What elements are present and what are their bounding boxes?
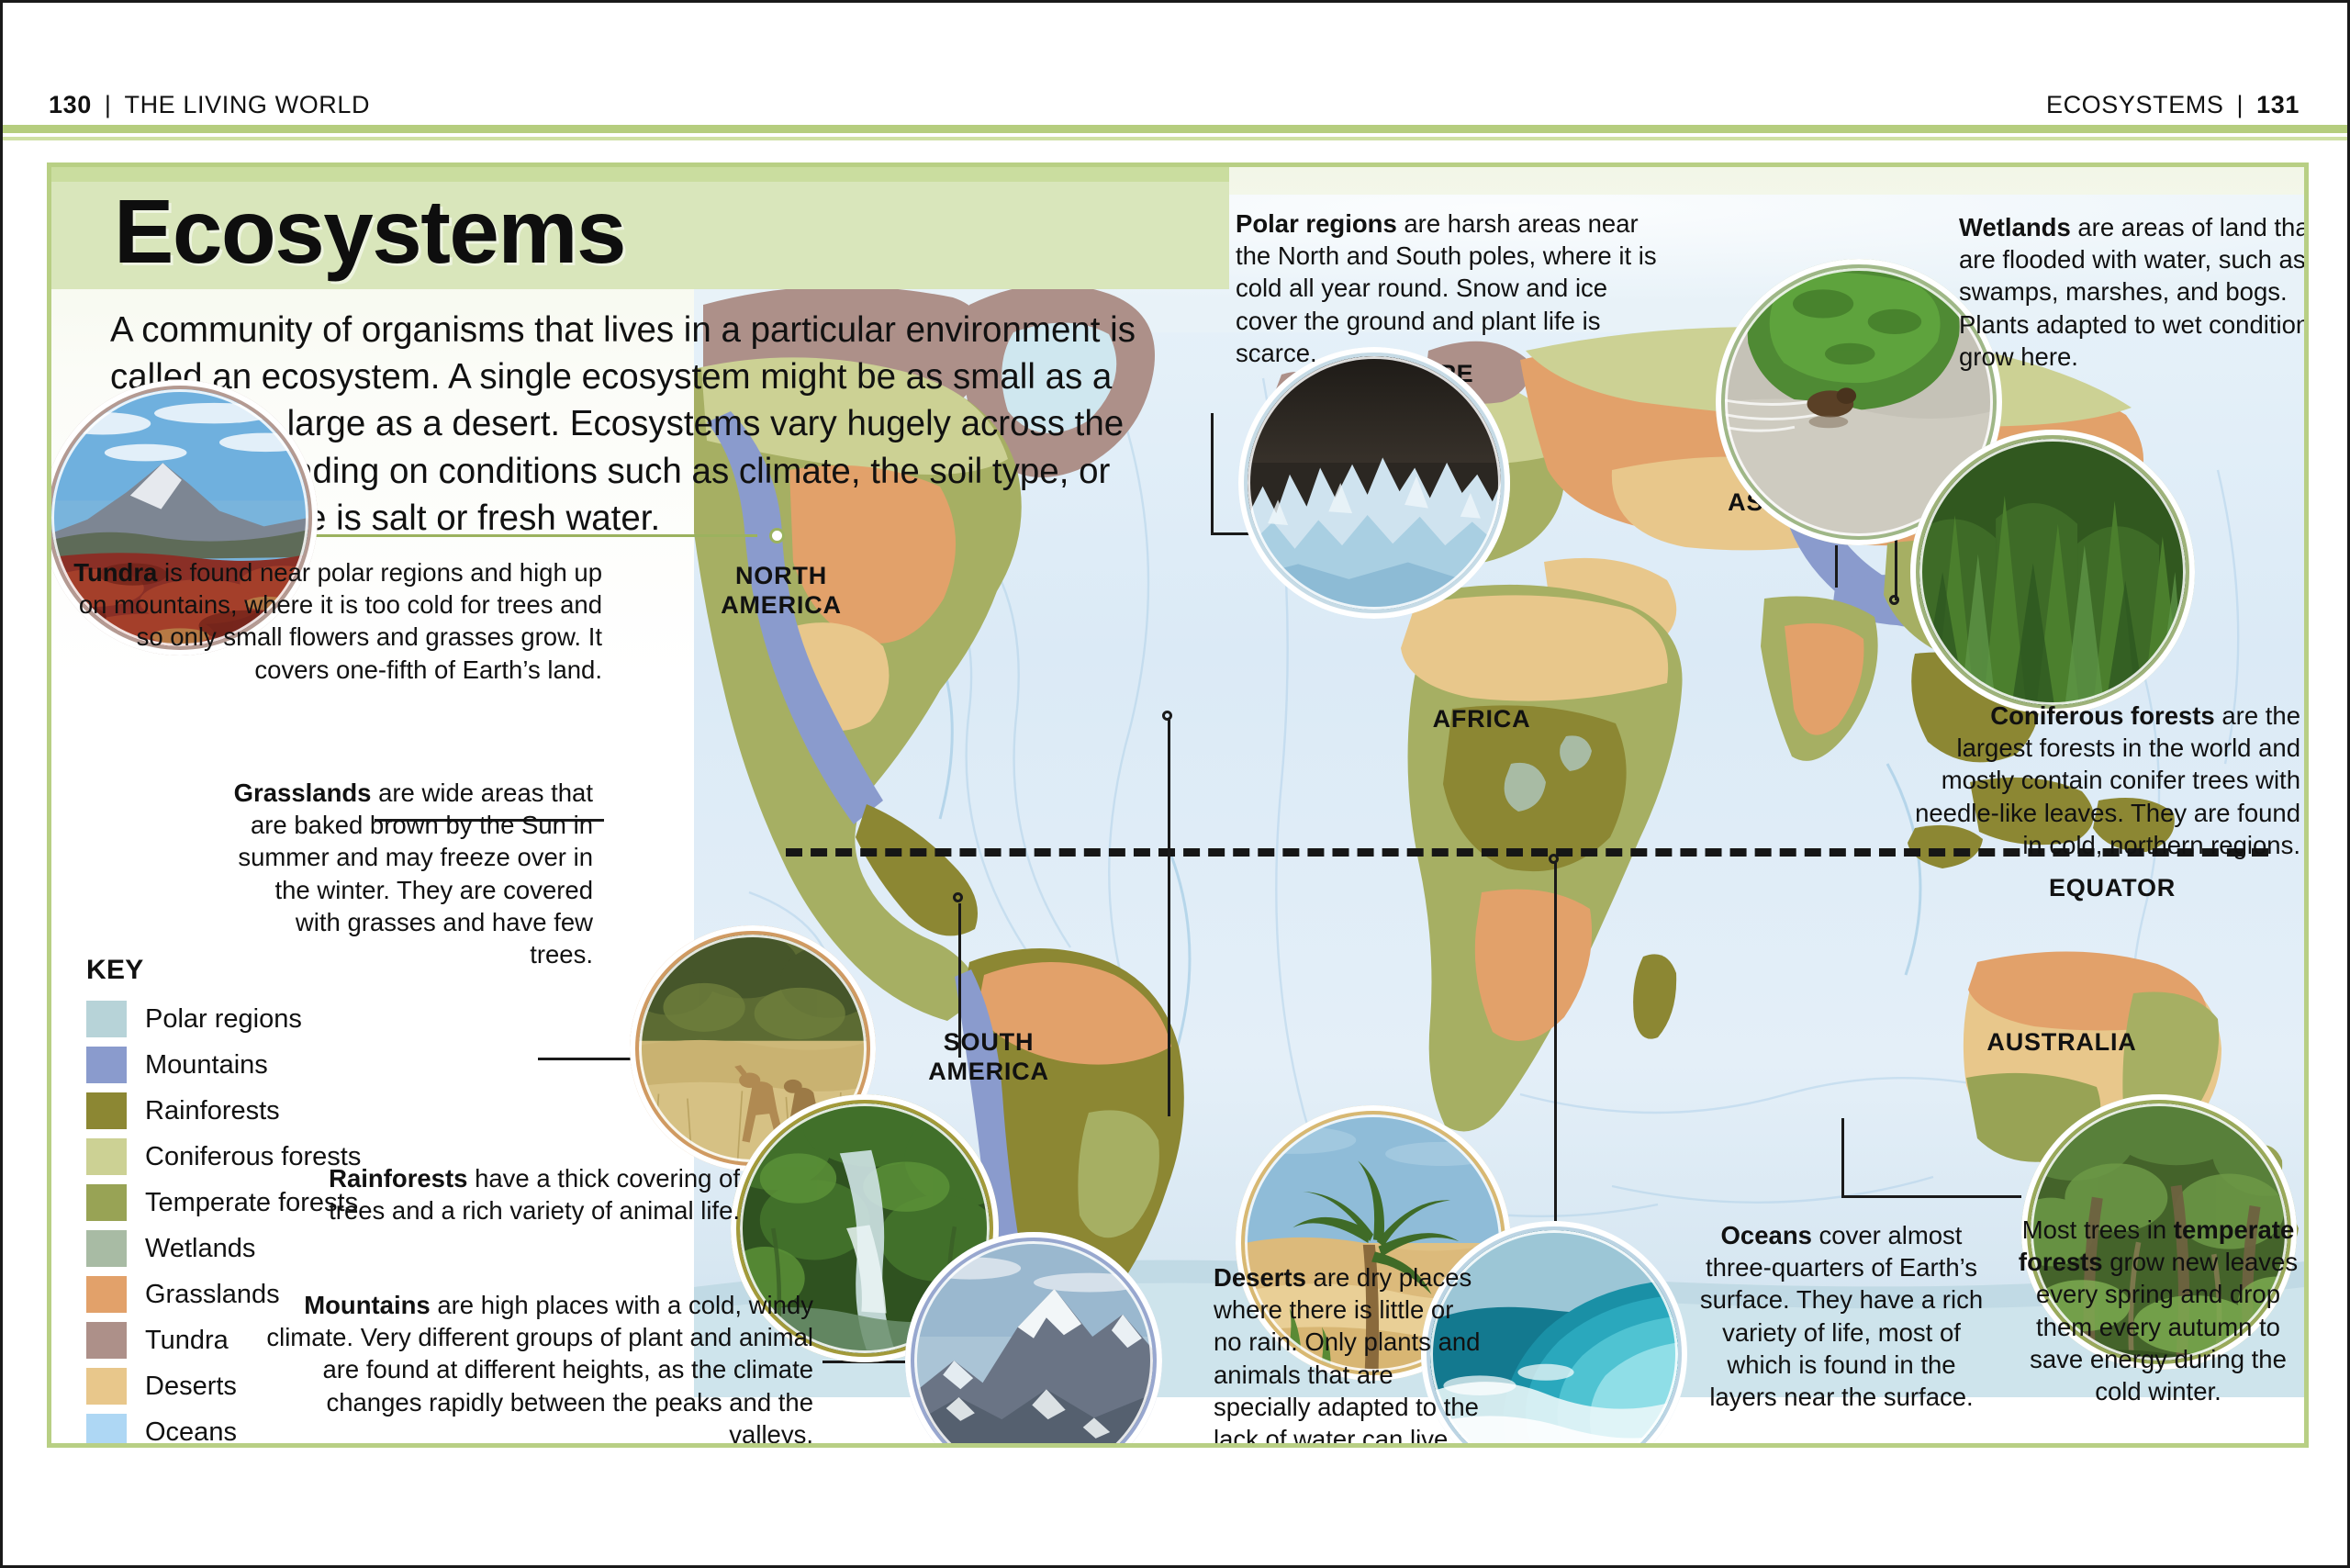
header-rule-thin xyxy=(3,137,2347,140)
caption-polar-regions: Polar regions are harsh areas near the N… xyxy=(1236,207,1667,369)
key-swatch xyxy=(86,1322,127,1359)
section-title-right: ECOSYSTEMS xyxy=(2046,91,2224,118)
runhead-separator-left: | xyxy=(92,91,125,119)
caption-tundra-term: Tundra xyxy=(73,558,157,587)
key-row: Wetlands xyxy=(86,1226,389,1271)
section-title-left: THE LIVING WORLD xyxy=(124,91,370,118)
photo-coniferous-forests xyxy=(1910,430,2195,714)
key-row: Tundra xyxy=(86,1317,389,1363)
caption-wetlands: Wetlands are areas of land that are floo… xyxy=(1959,211,2309,373)
map-key: KEY Polar regionsMountainsRainforestsCon… xyxy=(86,955,389,1448)
caption-coniferous-term: Coniferous forests xyxy=(1990,701,2214,730)
key-row: Coniferous forests xyxy=(86,1134,389,1180)
key-swatch xyxy=(86,1230,127,1267)
page-number-left: 130 xyxy=(49,91,92,118)
caption-grasslands-term: Grasslands xyxy=(234,778,372,807)
key-swatch xyxy=(86,1047,127,1083)
caption-oceans-term: Oceans xyxy=(1721,1221,1812,1249)
map-label-africa: AFRICA xyxy=(1390,705,1573,734)
key-row: Mountains xyxy=(86,1042,389,1088)
key-row: Deserts xyxy=(86,1363,389,1409)
intro-leader-dot xyxy=(769,528,785,543)
caption-grasslands-text: are wide areas that are baked brown by t… xyxy=(238,778,593,969)
page-number-right: 131 xyxy=(2256,91,2300,118)
photo-polar-inner xyxy=(1248,356,1501,610)
key-label: Polar regions xyxy=(145,1004,302,1035)
key-swatch xyxy=(86,1276,127,1313)
page-title: Ecosystems xyxy=(114,180,625,284)
runhead-separator-right: | xyxy=(2224,91,2257,119)
leader-africa-v xyxy=(1168,720,1170,1116)
content-panel: NORTHAMERICA SOUTHAMERICA EUROPE AFRICA … xyxy=(47,162,2309,1448)
caption-deserts-term: Deserts xyxy=(1214,1263,1306,1292)
map-label-australia: AUSTRALIA xyxy=(1942,1028,2181,1058)
leader-temperate-h xyxy=(1841,1195,2021,1198)
key-swatch xyxy=(86,1184,127,1221)
map-label-north-america: NORTHAMERICA xyxy=(694,562,878,621)
key-swatch xyxy=(86,1001,127,1037)
caption-oceans: Oceans cover almost three-quarters of Ea… xyxy=(1695,1219,1988,1413)
leader-africa-nub xyxy=(1162,711,1172,721)
leader-na-nub xyxy=(953,892,963,902)
photo-mountains xyxy=(905,1232,1162,1448)
photo-polar-regions xyxy=(1238,347,1510,619)
photo-coniferous-inner xyxy=(1919,439,2186,705)
key-swatch xyxy=(86,1138,127,1175)
caption-wetlands-term: Wetlands xyxy=(1959,213,2071,241)
caption-tundra: Tundra is found near polar regions and h… xyxy=(70,556,602,686)
key-row: Grasslands xyxy=(86,1271,389,1317)
key-row: Oceans xyxy=(86,1409,389,1448)
map-label-equator: EQUATOR xyxy=(1997,874,2227,903)
key-heading: KEY xyxy=(86,955,389,986)
caption-grasslands: Grasslands are wide areas that are baked… xyxy=(226,777,593,970)
key-row: Polar regions xyxy=(86,996,389,1042)
key-row: Temperate forests xyxy=(86,1180,389,1226)
header-rule xyxy=(3,125,2347,133)
key-label: Deserts xyxy=(145,1372,237,1402)
caption-polar-term: Polar regions xyxy=(1236,209,1397,238)
caption-tundra-text: is found near polar regions and high up … xyxy=(79,558,602,684)
running-head-right: ECOSYSTEMS|131 xyxy=(2046,91,2300,119)
leader-oceans-nub xyxy=(1549,854,1559,864)
key-label: Wetlands xyxy=(145,1234,255,1264)
photo-mountains-inner xyxy=(914,1241,1153,1448)
leader-coniferous-nub xyxy=(1889,595,1899,605)
leader-na-v xyxy=(958,903,961,1058)
leader-temperate-v xyxy=(1841,1118,1844,1197)
key-rows: Polar regionsMountainsRainforestsConifer… xyxy=(86,996,389,1448)
map-label-south-america: SOUTHAMERICA xyxy=(892,1028,1085,1087)
key-swatch xyxy=(86,1414,127,1448)
leader-wetlands-v xyxy=(1835,545,1838,588)
key-swatch xyxy=(86,1368,127,1405)
caption-temperate-pre: Most trees in xyxy=(2022,1215,2174,1244)
key-label: Temperate forests xyxy=(145,1188,358,1218)
key-swatch xyxy=(86,1092,127,1129)
caption-deserts: Deserts are dry places where there is li… xyxy=(1214,1261,1482,1448)
key-row: Rainforests xyxy=(86,1088,389,1134)
leader-polar-v xyxy=(1211,413,1214,534)
leader-oceans-v xyxy=(1554,863,1557,1256)
running-head-left: 130|THE LIVING WORLD xyxy=(49,91,370,119)
key-label: Oceans xyxy=(145,1417,237,1448)
key-label: Rainforests xyxy=(145,1096,280,1126)
caption-oceans-text: cover almost three-quarters of Earth’s s… xyxy=(1700,1221,1983,1411)
caption-temperate-forests: Most trees in temperate forests grow new… xyxy=(2016,1214,2300,1407)
key-label: Mountains xyxy=(145,1050,268,1081)
key-label: Tundra xyxy=(145,1326,229,1356)
key-label: Grasslands xyxy=(145,1280,280,1310)
caption-coniferous-forests: Coniferous forests are the largest fores… xyxy=(1915,700,2300,861)
encyclopedia-spread: 130|THE LIVING WORLD ECOSYSTEMS|131 xyxy=(0,0,2350,1568)
key-label: Coniferous forests xyxy=(145,1142,361,1172)
